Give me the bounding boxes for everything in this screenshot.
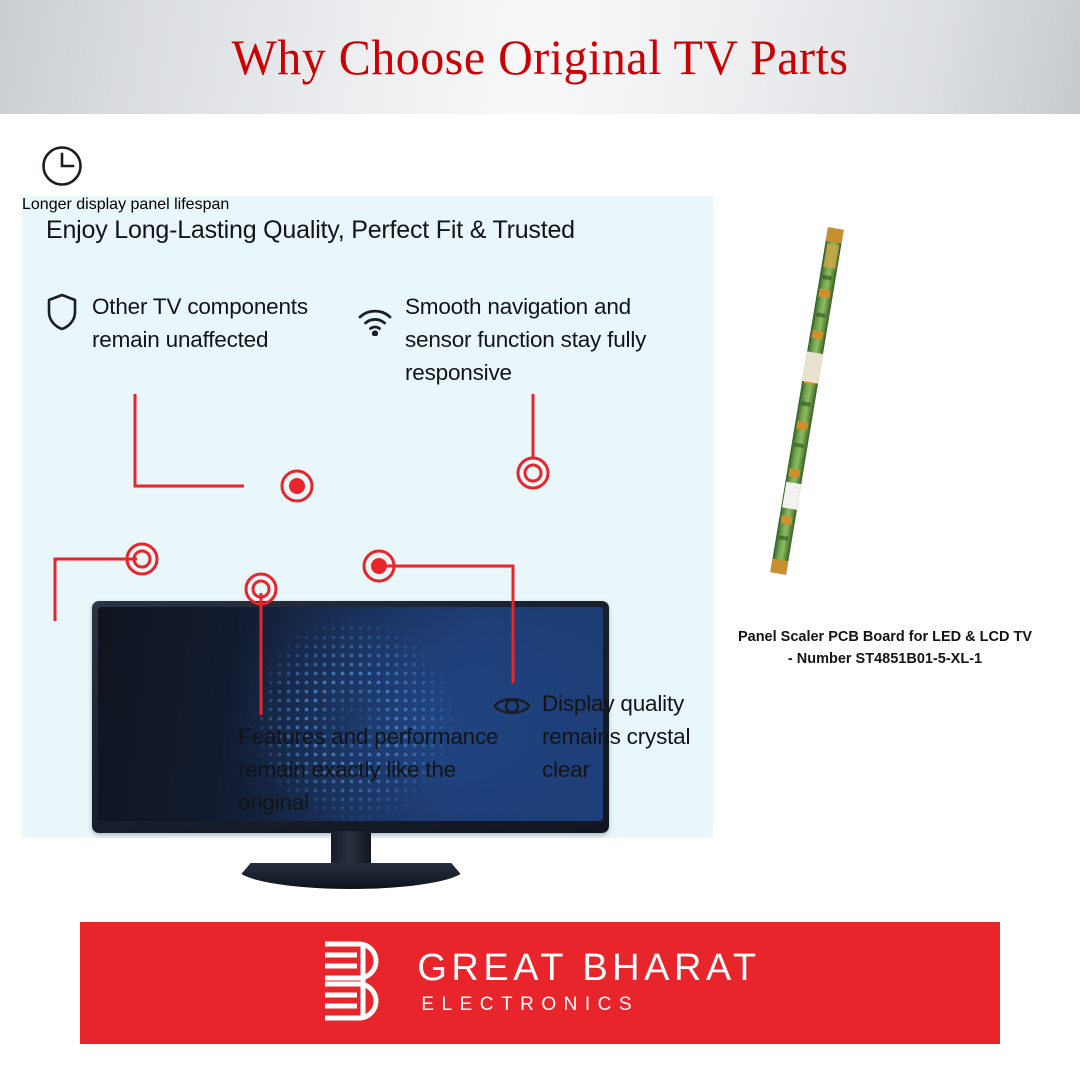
feature-label-clock: Longer display panel lifespan xyxy=(22,196,232,214)
eye-icon xyxy=(492,687,532,731)
feature-label-shield: Other TV components remain unaffected xyxy=(92,290,342,356)
pcb-board-image xyxy=(767,227,846,576)
callout-dot-ring-eye xyxy=(364,551,394,581)
product-caption-line-1: Panel Scaler PCB Board for LED & LCD TV xyxy=(700,626,1070,648)
feature-label-features: Features and performance remain exactly … xyxy=(238,720,518,819)
feature-label-eye: Display quality remains crystal clear xyxy=(542,687,712,786)
callout-ring-inner-features xyxy=(253,581,269,597)
feature-item-shield: Other TV components remain unaffected xyxy=(42,290,342,356)
product-caption: Panel Scaler PCB Board for LED & LCD TV … xyxy=(700,626,1070,670)
great-bharat-b-monogram-icon xyxy=(319,938,391,1029)
product-figure: Panel Scaler PCB Board for LED & LCD TV … xyxy=(700,226,1070,666)
tv-stand-base xyxy=(237,863,465,889)
feature-item-clock: Longer display panel lifespan xyxy=(22,196,232,214)
feature-item-eye: Display quality remains crystal clear xyxy=(492,687,712,786)
clock-icon xyxy=(40,144,84,193)
callout-ring-inner-clock xyxy=(134,551,150,567)
product-caption-line-2: - Number ST4851B01-5-XL-1 xyxy=(700,648,1070,670)
callout-ring-inner-wifi xyxy=(525,465,541,481)
feature-item-features: Features and performance remain exactly … xyxy=(238,720,518,819)
callout-dot-shield xyxy=(289,478,305,494)
callout-ring-outer-wifi xyxy=(518,458,548,488)
callout-ring-outer-clock xyxy=(127,544,157,574)
callout-dot-eye xyxy=(371,558,387,574)
header-band: Why Choose Original TV Parts xyxy=(0,0,1080,114)
info-panel: Enjoy Long-Lasting Quality, Perfect Fit … xyxy=(22,196,713,838)
brand-name: GREAT BHARAT xyxy=(417,946,760,990)
feature-label-wifi: Smooth navigation and sensor function st… xyxy=(405,290,675,389)
feature-item-wifi: Smooth navigation and sensor function st… xyxy=(355,290,675,389)
callout-line-shield xyxy=(135,394,244,486)
footer-brand-bar: GREAT BHARAT ELECTRONICS xyxy=(80,922,1000,1044)
callout-dot-ring-shield xyxy=(282,471,312,501)
wifi-icon xyxy=(355,290,395,336)
shield-icon xyxy=(42,290,82,336)
brand-subtitle: ELECTRONICS xyxy=(417,990,639,1020)
callout-ring-outer-features xyxy=(246,574,276,604)
page-title: Why Choose Original TV Parts xyxy=(22,0,1059,114)
brand-text-block: GREAT BHARAT ELECTRONICS xyxy=(417,946,760,1020)
panel-headline: Enjoy Long-Lasting Quality, Perfect Fit … xyxy=(46,216,686,245)
